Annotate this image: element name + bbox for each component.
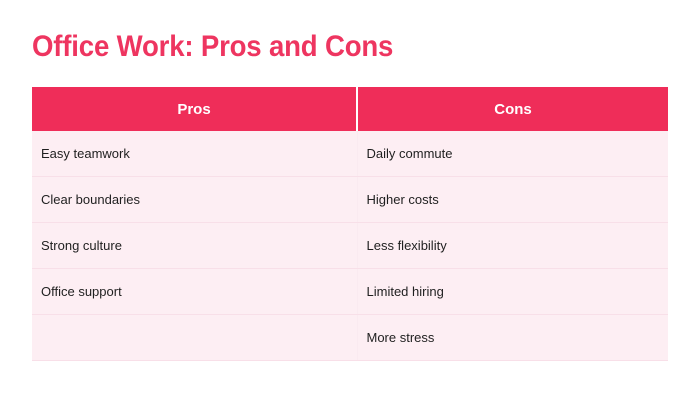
cell-cons[interactable]: Daily commute (357, 131, 668, 177)
cell-cons[interactable]: Higher costs (357, 177, 668, 223)
slide-canvas: Office Work: Pros and Cons Pros Cons Eas… (0, 0, 700, 400)
cell-cons[interactable]: Less flexibility (357, 223, 668, 269)
table-header: Pros Cons (32, 87, 668, 131)
cell-pros[interactable]: Clear boundaries (32, 177, 357, 223)
cell-pros-empty[interactable] (32, 315, 357, 361)
cell-pros[interactable]: Office support (32, 269, 357, 315)
table-row: Easy teamwork Daily commute (32, 131, 668, 177)
table-body: Easy teamwork Daily commute Clear bounda… (32, 131, 668, 361)
table-header-row: Pros Cons (32, 87, 668, 131)
cell-cons-text: More stress (367, 330, 669, 345)
column-header-cons[interactable]: Cons (357, 87, 668, 131)
cell-cons[interactable]: More stress (357, 315, 668, 361)
table-row: Office support Limited hiring (32, 269, 668, 315)
cell-pros-text: Strong culture (41, 238, 357, 253)
cell-cons-text: Daily commute (367, 146, 669, 161)
cell-cons-text: Less flexibility (367, 238, 669, 253)
cell-cons-text: Limited hiring (367, 284, 669, 299)
cell-pros[interactable]: Strong culture (32, 223, 357, 269)
cell-pros-text: Office support (41, 284, 357, 299)
cell-pros[interactable]: Easy teamwork (32, 131, 357, 177)
table-row: Strong culture Less flexibility (32, 223, 668, 269)
cell-cons-text: Higher costs (367, 192, 669, 207)
table-row: Clear boundaries Higher costs (32, 177, 668, 223)
cell-pros-text: Easy teamwork (41, 146, 357, 161)
column-header-cons-label: Cons (358, 101, 668, 118)
pros-cons-table: Pros Cons Easy teamwork Daily commute Cl… (32, 87, 668, 361)
cell-cons[interactable]: Limited hiring (357, 269, 668, 315)
column-header-pros[interactable]: Pros (32, 87, 357, 131)
table-row: More stress (32, 315, 668, 361)
cell-pros-text: Clear boundaries (41, 192, 357, 207)
page-title: Office Work: Pros and Cons (32, 31, 393, 63)
column-header-pros-label: Pros (32, 101, 356, 118)
